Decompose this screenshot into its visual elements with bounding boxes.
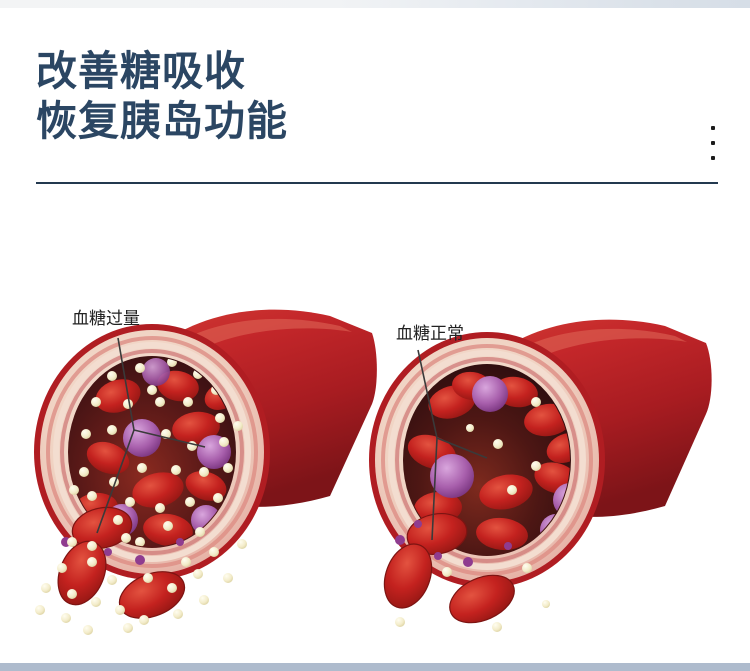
label-excess-blood-sugar: 血糖过量 <box>72 309 140 329</box>
top-accent-strip <box>0 0 750 8</box>
left-wbc <box>123 419 161 457</box>
kebab-menu-icon[interactable] <box>706 126 720 160</box>
header-divider <box>36 182 718 184</box>
right-wbc <box>472 376 508 412</box>
blood-vessel-illustration: 血糖过量 血糖正常 <box>0 190 750 663</box>
left-vessel-group <box>34 310 377 635</box>
page-header: 改善糖吸收 恢复胰岛功能 <box>0 8 750 190</box>
kebab-dot-3 <box>711 156 715 160</box>
left-wbc <box>142 358 170 386</box>
page-title-line-2: 恢复胰岛功能 <box>36 96 288 146</box>
right-vessel-group <box>369 320 712 632</box>
page-title-line-1: 改善糖吸收 <box>36 46 288 96</box>
label-normal-blood-sugar: 血糖正常 <box>396 324 464 344</box>
kebab-dot-1 <box>711 126 715 130</box>
bottom-accent-bar <box>0 663 750 671</box>
vessel-diagram-svg <box>0 190 750 663</box>
page-title: 改善糖吸收 恢复胰岛功能 <box>36 46 288 146</box>
page-root: 改善糖吸收 恢复胰岛功能 <box>0 0 750 671</box>
kebab-dot-2 <box>711 141 715 145</box>
